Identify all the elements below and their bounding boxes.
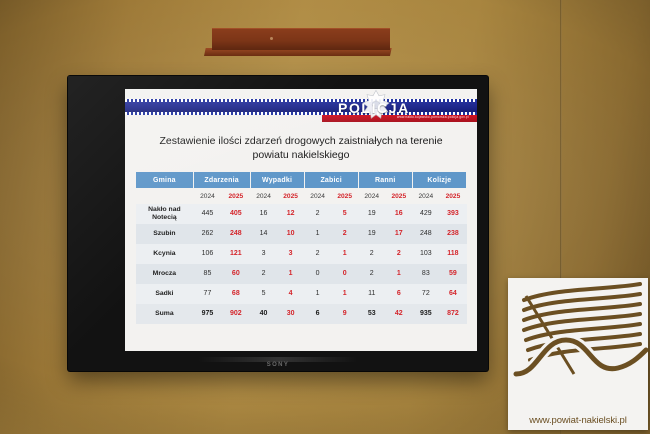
cell-value: 393 (439, 204, 466, 224)
cell-gmina: Suma (136, 304, 194, 324)
table-group-header-row: Gmina Zdarzenia Wypadki Zabici Ranni Kol… (136, 172, 467, 189)
banner-dash-top (125, 99, 477, 102)
cell-value: 9 (331, 304, 358, 324)
police-banner: POLICJA www.nakło.kujawsko-pomorska.poli… (125, 89, 477, 127)
table-row: Kcynia106121332122103118 (136, 244, 467, 264)
cell-value: 262 (193, 224, 221, 244)
cell-value: 60 (222, 264, 250, 284)
cell-value: 248 (222, 224, 250, 244)
cell-value: 0 (331, 264, 358, 284)
statistics-table: Gmina Zdarzenia Wypadki Zabici Ranni Kol… (135, 171, 467, 324)
cell-value: 429 (412, 204, 439, 224)
cell-gmina: Szubin (136, 224, 194, 244)
table-body: Nakło nad Notecią4454051612251916429393S… (136, 204, 467, 324)
cell-gmina: Mrocza (136, 264, 194, 284)
cell-value: 68 (222, 284, 250, 304)
television: POLICJA www.nakło.kujawsko-pomorska.poli… (68, 76, 488, 371)
col-year-zabici-2025: 2025 (331, 189, 358, 204)
cell-value: 872 (439, 304, 466, 324)
cell-value: 59 (439, 264, 466, 284)
cell-value: 248 (412, 224, 439, 244)
statistics-table-wrap: Gmina Zdarzenia Wypadki Zabici Ranni Kol… (135, 171, 467, 324)
policja-wordmark: POLICJA (338, 100, 410, 116)
cell-value: 42 (385, 304, 412, 324)
table-row: Sadki776854111167264 (136, 284, 467, 304)
cell-value: 6 (304, 304, 331, 324)
cell-value: 0 (304, 264, 331, 284)
room-scene: POLICJA www.nakło.kujawsko-pomorska.poli… (0, 0, 650, 434)
watermark-url: www.powiat-nakielski.pl (508, 415, 648, 426)
table-row: Szubin2622481410121917248238 (136, 224, 467, 244)
cell-gmina: Sadki (136, 284, 194, 304)
wooden-shelf (204, 28, 390, 58)
col-group-zdarzenia: Zdarzenia (193, 172, 250, 189)
col-group-gmina: Gmina (136, 172, 194, 189)
powiat-nakielski-wave-logo-icon (508, 278, 648, 400)
col-year-zdarzenia-2024: 2024 (193, 189, 221, 204)
col-year-ranni-2025: 2025 (385, 189, 412, 204)
table-year-header-row: 2024 2025 2024 2025 2024 2025 2024 2025 … (136, 189, 467, 204)
col-year-blank (136, 189, 194, 204)
police-url: www.nakło.kujawsko-pomorska.policja.gov.… (397, 115, 469, 119)
shelf-front-face (212, 28, 390, 50)
cell-value: 19 (358, 224, 385, 244)
cell-value: 6 (385, 284, 412, 304)
col-year-zdarzenia-2025: 2025 (222, 189, 250, 204)
presentation-slide: POLICJA www.nakło.kujawsko-pomorska.poli… (125, 89, 477, 351)
cell-value: 118 (439, 244, 466, 264)
col-group-wypadki: Wypadki (250, 172, 304, 189)
table-row: Mrocza85602100218359 (136, 264, 467, 284)
cell-value: 16 (385, 204, 412, 224)
col-year-kolizje-2024: 2024 (412, 189, 439, 204)
cell-value: 2 (331, 224, 358, 244)
cell-value: 2 (250, 264, 277, 284)
cell-value: 935 (412, 304, 439, 324)
cell-value: 2 (385, 244, 412, 264)
col-year-wypadki-2025: 2025 (277, 189, 304, 204)
table-head: Gmina Zdarzenia Wypadki Zabici Ranni Kol… (136, 172, 467, 204)
shelf-screw (270, 37, 273, 40)
col-year-ranni-2024: 2024 (358, 189, 385, 204)
col-year-zabici-2024: 2024 (304, 189, 331, 204)
cell-value: 5 (331, 204, 358, 224)
col-year-wypadki-2024: 2024 (250, 189, 277, 204)
cell-value: 72 (412, 284, 439, 304)
table-row-total: Suma9759024030695342935872 (136, 304, 467, 324)
cell-value: 5 (250, 284, 277, 304)
cell-value: 19 (358, 204, 385, 224)
cell-value: 902 (222, 304, 250, 324)
cell-value: 1 (277, 264, 304, 284)
col-group-zabici: Zabici (304, 172, 358, 189)
col-group-ranni: Ranni (358, 172, 412, 189)
col-year-kolizje-2025: 2025 (439, 189, 466, 204)
cell-value: 14 (250, 224, 277, 244)
cell-value: 4 (277, 284, 304, 304)
cell-value: 64 (439, 284, 466, 304)
cell-gmina: Nakło nad Notecią (136, 204, 194, 224)
cell-value: 2 (304, 204, 331, 224)
cell-value: 53 (358, 304, 385, 324)
cell-value: 40 (250, 304, 277, 324)
cell-value: 83 (412, 264, 439, 284)
cell-value: 30 (277, 304, 304, 324)
watermark-logo: www.powiat-nakielski.pl (508, 278, 648, 430)
cell-value: 2 (304, 244, 331, 264)
cell-value: 85 (193, 264, 221, 284)
col-group-kolizje: Kolizje (412, 172, 466, 189)
cell-value: 3 (277, 244, 304, 264)
cell-value: 16 (250, 204, 277, 224)
cell-value: 17 (385, 224, 412, 244)
cell-value: 1 (331, 244, 358, 264)
cell-value: 103 (412, 244, 439, 264)
cell-value: 1 (385, 264, 412, 284)
cell-value: 975 (193, 304, 221, 324)
cell-value: 3 (250, 244, 277, 264)
cell-value: 445 (193, 204, 221, 224)
cell-value: 2 (358, 244, 385, 264)
slide-title: Zestawienie ilości zdarzeń drogowych zai… (141, 134, 461, 162)
cell-value: 121 (222, 244, 250, 264)
cell-value: 77 (193, 284, 221, 304)
cell-value: 106 (193, 244, 221, 264)
cell-value: 1 (304, 224, 331, 244)
cell-value: 10 (277, 224, 304, 244)
cell-value: 405 (222, 204, 250, 224)
tv-brand-logo: SONY (68, 362, 488, 368)
table-row: Nakło nad Notecią4454051612251916429393 (136, 204, 467, 224)
cell-value: 1 (304, 284, 331, 304)
cell-value: 12 (277, 204, 304, 224)
cell-value: 11 (358, 284, 385, 304)
cell-value: 2 (358, 264, 385, 284)
cell-gmina: Kcynia (136, 244, 194, 264)
cell-value: 1 (331, 284, 358, 304)
cell-value: 238 (439, 224, 466, 244)
